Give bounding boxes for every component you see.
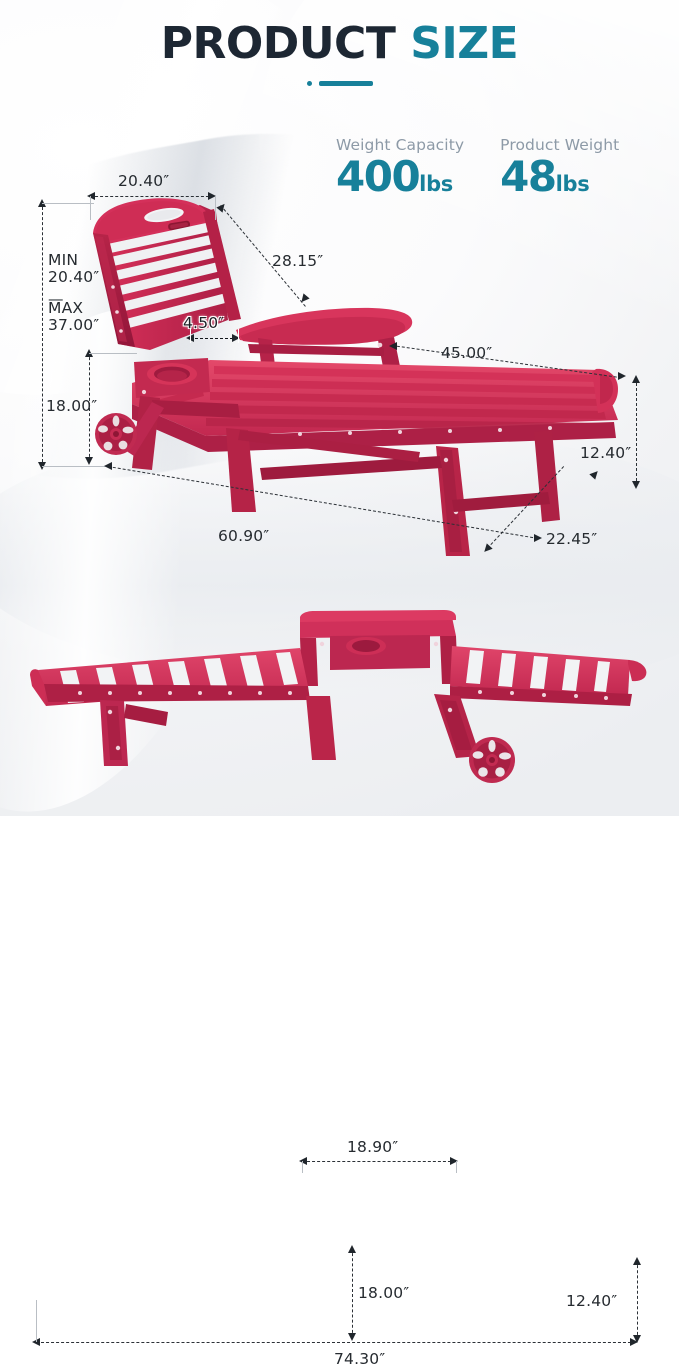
flat-legs-center [306, 694, 515, 783]
flat-legs-left [100, 700, 168, 766]
infographic-canvas: PRODUCT SIZE Weight Capacity 400lbs Prod… [0, 0, 679, 816]
extline-seat-height-bottom [42, 466, 107, 467]
value-max: 37.00″ [48, 316, 99, 334]
label-min: MIN [48, 251, 78, 269]
label-max: MAX [48, 299, 83, 317]
arrow-foot-height-bottom [632, 481, 640, 489]
dimension-overall-length-flat: 74.30″ [334, 1350, 385, 1368]
dimension-backrest-length: 28.15″ [272, 252, 323, 270]
dimline-seat-height-flat [352, 1248, 353, 1338]
extline-headrest-width-right [456, 1161, 457, 1173]
dimline-backrest-width [90, 196, 214, 197]
dimension-foot-height-flat: 12.40″ [566, 1292, 617, 1310]
arrow-foot-height-top [632, 375, 640, 383]
extline-backrest-height-top [42, 203, 94, 204]
dimension-headrest-width: 18.90″ [347, 1138, 398, 1156]
dimension-seat-length: 45.00″ [441, 344, 492, 362]
extline-armrest-gap-right [238, 329, 239, 343]
product-illustration-flat: 18.90″ 18.00″ 12.40″ 74.30″ [0, 560, 679, 816]
dimline-overall-length-flat [36, 1342, 636, 1343]
dimension-backrest-height-min: MIN20.40″ [48, 252, 99, 287]
flat-deck-left [30, 648, 310, 706]
dimline-foot-height [636, 378, 637, 486]
dimline-foot-height-flat [637, 1260, 638, 1340]
dimension-foot-height: 12.40″ [580, 444, 631, 462]
extline-headrest-width-left [302, 1161, 303, 1173]
dimline-backrest-height [42, 202, 43, 467]
dimension-seat-height-flat: 18.00″ [358, 1284, 409, 1302]
flat-deck-right [450, 646, 646, 706]
dimension-overall-width: 22.45″ [546, 530, 597, 548]
dimline-armrest-gap [190, 338, 238, 339]
arrow-seat-length-left [389, 342, 397, 350]
arrow-foot-height-flat-top [633, 1257, 641, 1265]
extline-backrest-width-left [90, 196, 91, 220]
arrow-headrest-width-left [299, 1157, 307, 1165]
extline-overall-length-flat-left [36, 1300, 37, 1342]
extline-backrest-width-right [215, 196, 216, 220]
arrow-seat-height-flat-top [348, 1245, 356, 1253]
extline-seat-height-top [89, 353, 137, 354]
arrow-overall-length-flat-right [630, 1338, 638, 1346]
dimension-backrest-width: 20.40″ [118, 172, 169, 190]
dimension-backrest-height-max: MAX37.00″ [48, 300, 99, 335]
arrow-seat-height-flat-bottom [348, 1333, 356, 1341]
dimline-headrest-width [302, 1161, 456, 1162]
dimension-armrest-gap: 4.50″ [183, 314, 224, 332]
arrow-overall-length-left [104, 462, 112, 470]
arrow-seat-height-bottom [85, 457, 93, 465]
dimension-seat-height: 18.00″ [46, 397, 97, 415]
chaise-reclined-svg [0, 0, 679, 580]
arrow-overall-length-right [534, 534, 542, 542]
cup-holder-group [134, 358, 210, 398]
dimension-overall-length: 60.90″ [218, 527, 269, 545]
arrow-seat-length-right [618, 372, 626, 380]
flat-headrest-group [300, 610, 458, 686]
value-min: 20.40″ [48, 268, 99, 286]
product-illustration-reclined: 20.40″ MIN20.40″ — MAX37.00″ 28.15″ 4.50… [0, 0, 679, 580]
arrow-backrest-width-left [87, 192, 95, 200]
chaise-flat-svg [0, 560, 679, 816]
